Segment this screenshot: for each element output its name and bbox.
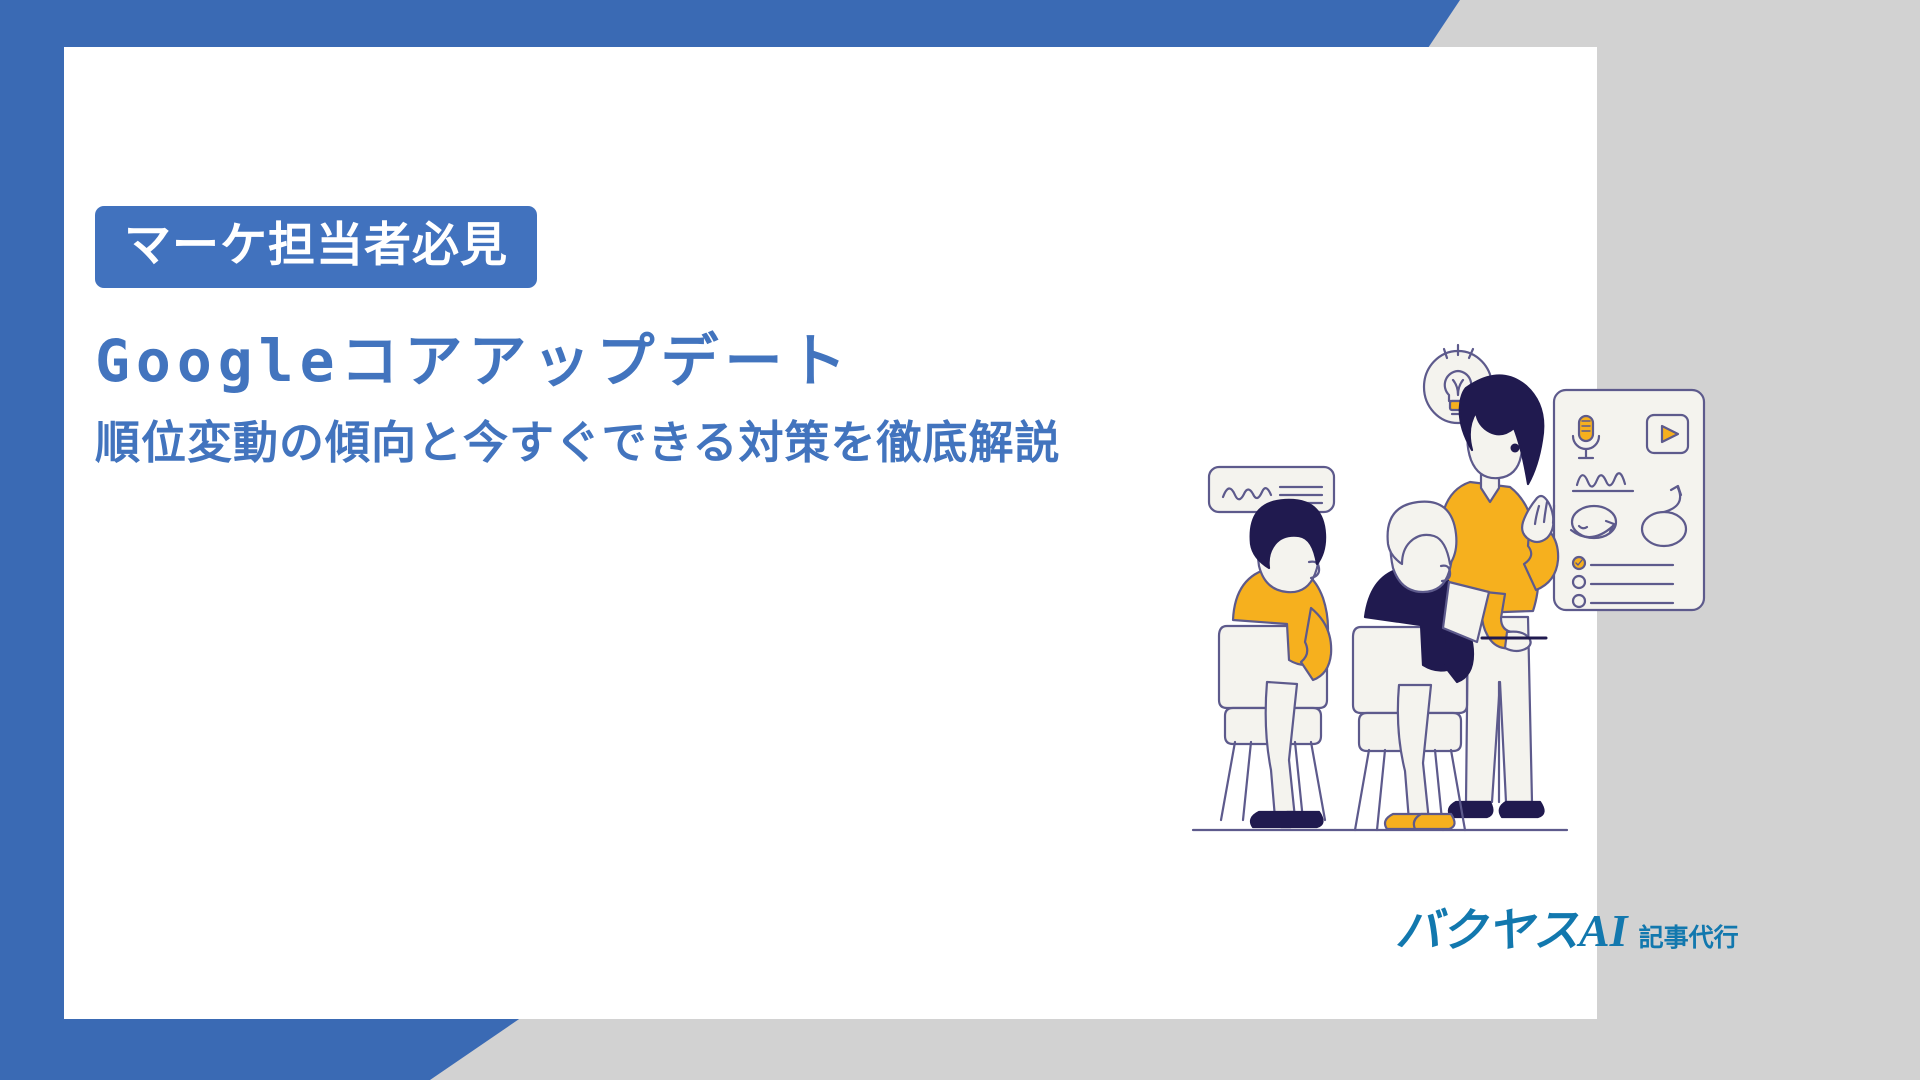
brand-service: 記事代行 <box>1639 926 1739 951</box>
page-subtitle: 順位変動の傾向と今すぐできる対策を徹底解説 <box>95 411 1105 475</box>
poster-canvas: マーケ担当者必見 Googleコアアップデート 順位変動の傾向と今すぐできる対策… <box>0 0 1920 1080</box>
eyebrow-badge-label: マーケ担当者必見 <box>124 218 508 271</box>
seated-person-one <box>1219 500 1331 827</box>
arrow-loop-left <box>1571 506 1616 538</box>
presenter-hand <box>1522 496 1554 542</box>
page-title: Googleコアアップデート <box>95 327 1125 395</box>
hero-illustration <box>1185 330 1785 870</box>
headline-block: マーケ担当者必見 Googleコアアップデート 順位変動の傾向と今すぐできる対策… <box>95 206 1125 475</box>
eyebrow-badge: マーケ担当者必見 <box>95 206 537 288</box>
brand-name: バクヤスAI <box>1395 908 1628 954</box>
play-button-icon <box>1647 415 1688 453</box>
brand-logo: バクヤスAI 記事代行 <box>1395 908 1739 954</box>
presentation-board <box>1554 390 1704 610</box>
